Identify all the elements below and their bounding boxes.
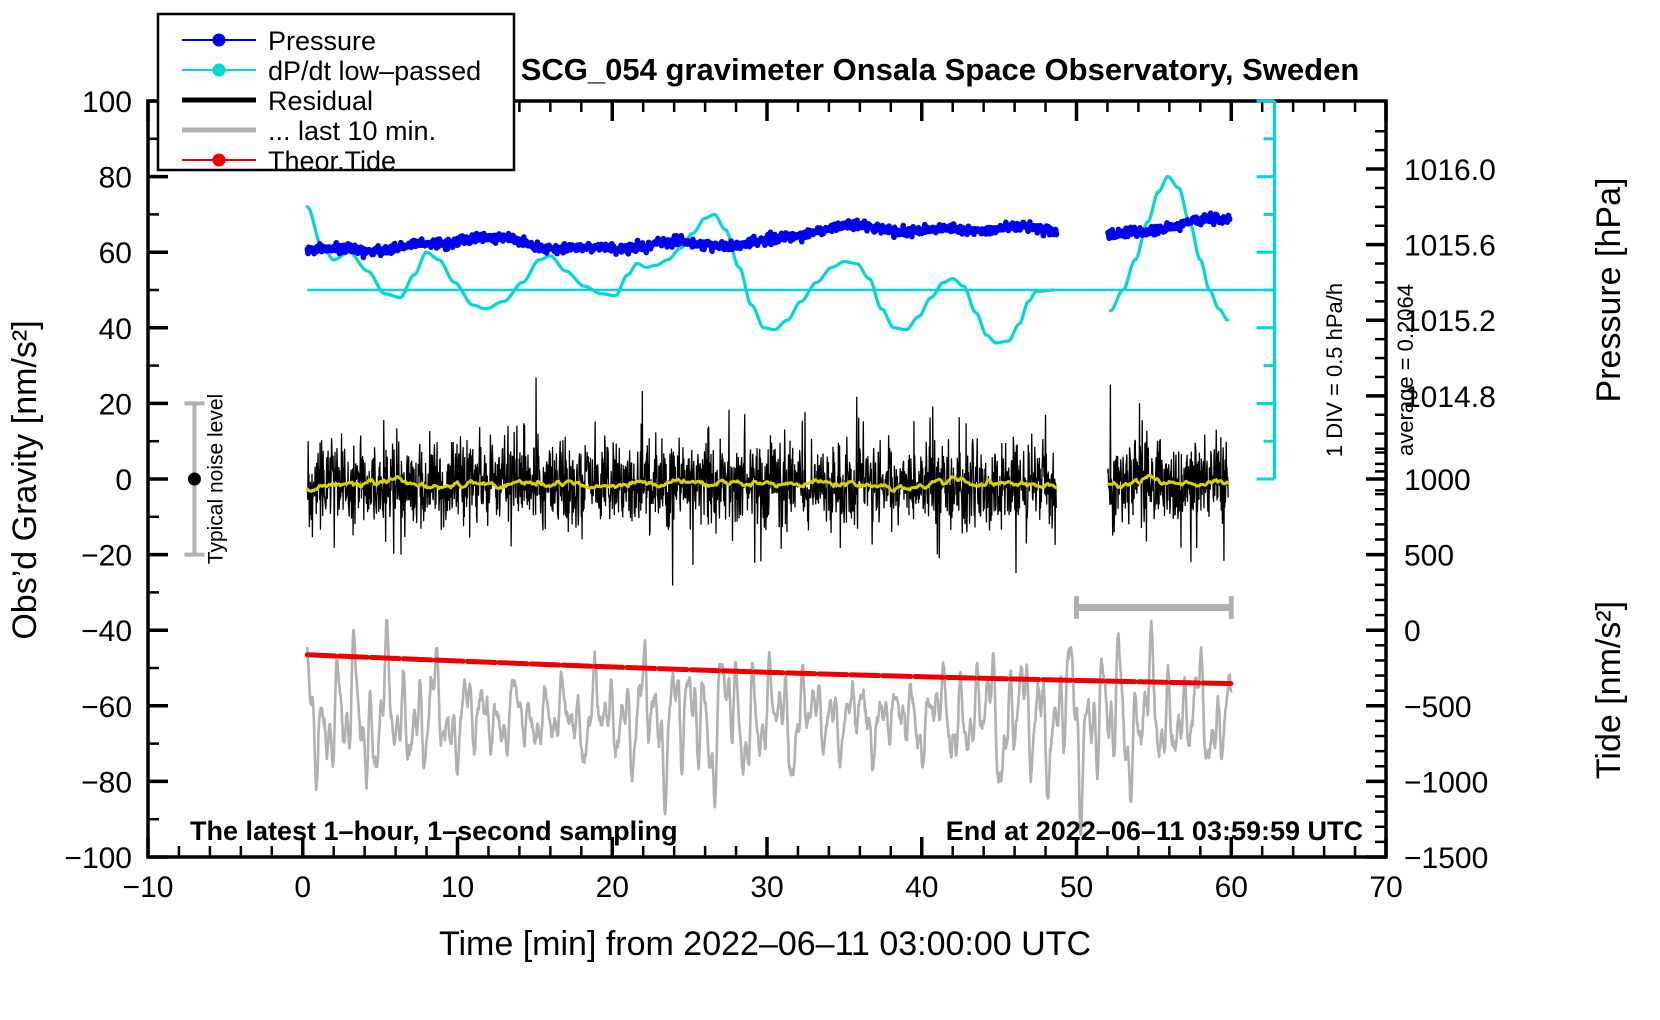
y-tick-label: −100 bbox=[64, 842, 132, 875]
y-tick-label: −60 bbox=[81, 691, 132, 724]
x-tick-label: 30 bbox=[750, 871, 783, 904]
footer-left-note: The latest 1–hour, 1–second sampling bbox=[190, 816, 678, 846]
y-tick-label: 80 bbox=[99, 162, 132, 195]
legend-label: dP/dt low–passed bbox=[268, 56, 481, 86]
x-tick-label: 0 bbox=[294, 871, 311, 904]
y-tick-label: −40 bbox=[81, 615, 132, 648]
legend-label: Residual bbox=[268, 86, 373, 116]
legend-marker-dot bbox=[213, 34, 226, 47]
tide-tick-label: −1000 bbox=[1404, 766, 1488, 799]
legend-label: Theor.Tide bbox=[268, 146, 396, 176]
typical-noise-label: Typical noise level bbox=[204, 394, 227, 564]
x-tick-label: 20 bbox=[596, 871, 629, 904]
x-tick-label: 70 bbox=[1369, 871, 1402, 904]
page-title: SCG_054 gravimeter Onsala Space Observat… bbox=[521, 52, 1360, 87]
legend-label: Pressure bbox=[268, 26, 376, 56]
y-tick-label: 0 bbox=[115, 464, 132, 497]
pressure-tick-label: 1016.0 bbox=[1404, 154, 1496, 187]
x-axis-label: Time [min] from 2022–06–11 03:00:00 UTC bbox=[439, 925, 1091, 963]
tide-tick-label: 1000 bbox=[1404, 464, 1471, 497]
y-tick-label: −80 bbox=[81, 766, 132, 799]
y-tick-label: 60 bbox=[99, 237, 132, 270]
x-tick-label: 60 bbox=[1215, 871, 1248, 904]
legend-label: ... last 10 min. bbox=[268, 116, 436, 146]
x-tick-label: 50 bbox=[1060, 871, 1093, 904]
noise-center-dot bbox=[188, 473, 201, 486]
legend-marker-dot bbox=[213, 154, 226, 167]
legend-marker-dot bbox=[213, 64, 226, 77]
tide-tick-label: 0 bbox=[1404, 615, 1421, 648]
tide-tick-label: −1500 bbox=[1404, 842, 1488, 875]
y-tick-label: 40 bbox=[99, 313, 132, 346]
x-tick-label: 40 bbox=[905, 871, 938, 904]
pressure-scale-note: 1 DIV = 0.5 hPa/h bbox=[1322, 283, 1347, 457]
y-axis-label-pressure: Pressure [hPa] bbox=[1590, 178, 1628, 403]
gravimeter-chart: −10010203040506070 −100−80−60−40−2002040… bbox=[0, 0, 1660, 1020]
tide-tick-label: −500 bbox=[1404, 691, 1472, 724]
x-tick-label: −10 bbox=[123, 871, 174, 904]
pressure-average-note: average = 0.2064 bbox=[1393, 284, 1418, 456]
gravimeter-plot-page: −10010203040506070 −100−80−60−40−2002040… bbox=[0, 0, 1660, 1020]
tide-tick-label: 500 bbox=[1404, 540, 1454, 573]
y-tick-label: 20 bbox=[99, 388, 132, 421]
footer-right-note: End at 2022–06–11 03:59:59 UTC bbox=[946, 816, 1363, 846]
pressure-tick-label: 1015.6 bbox=[1404, 230, 1496, 263]
y-axis-label-tide: Tide [nm/s²] bbox=[1590, 601, 1628, 779]
y-axis-label-gravity: Obs’d Gravity [nm/s²] bbox=[6, 320, 44, 639]
legend[interactable]: PressuredP/dt low–passedResidual... last… bbox=[158, 14, 514, 176]
y-tick-label: −20 bbox=[81, 540, 132, 573]
y-tick-label: 100 bbox=[82, 86, 132, 119]
x-tick-label: 10 bbox=[441, 871, 474, 904]
